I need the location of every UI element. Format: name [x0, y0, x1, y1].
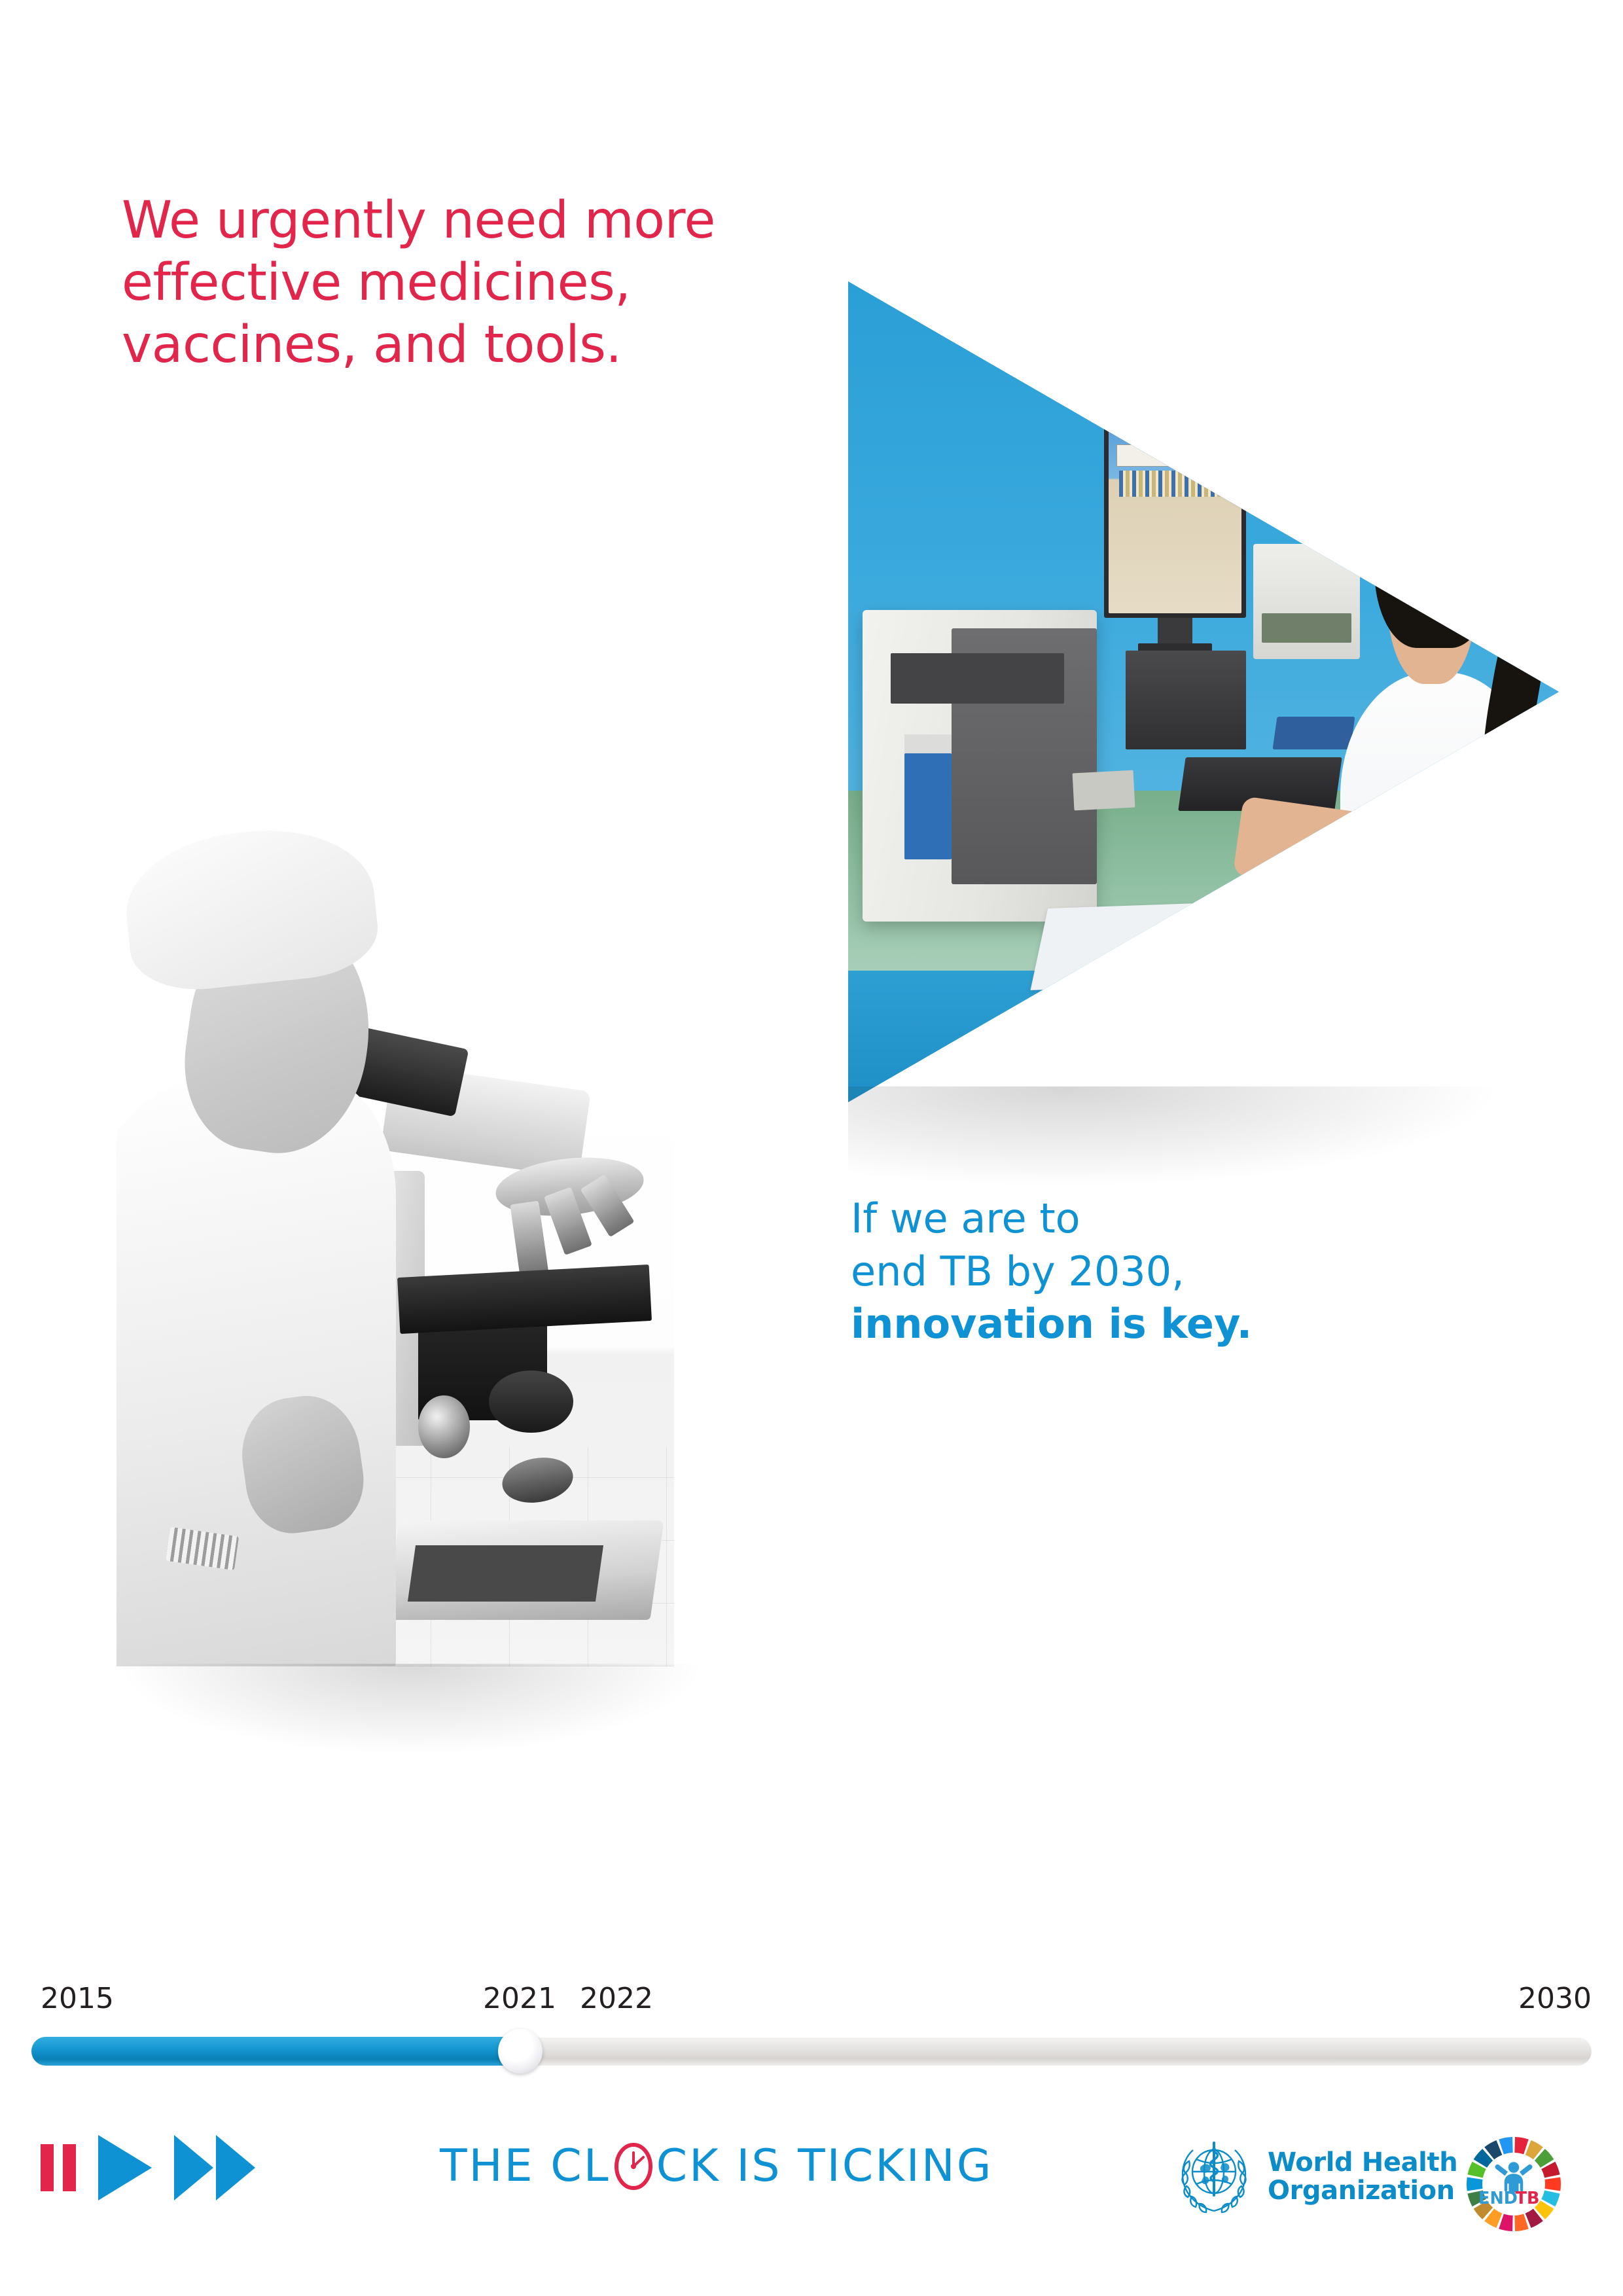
- who-wordmark: World HealthOrganization: [1268, 2149, 1457, 2205]
- technician-mouse-arm: [1411, 823, 1486, 892]
- lab-scene-background: [848, 281, 1559, 1102]
- fast-forward-triangle-2: [216, 2135, 255, 2200]
- fast-forward-icon[interactable]: [174, 2135, 255, 2200]
- timeline-label-2022: 2022: [580, 1982, 653, 2015]
- timeline-slider[interactable]: 2015 2021 2022 2030: [31, 1982, 1592, 2073]
- monitor-stand: [1158, 618, 1192, 645]
- screen-data-strip: [1119, 471, 1228, 497]
- genexpert-slot: [891, 653, 1064, 703]
- clock-icon: [613, 2142, 654, 2191]
- left-photo-shadow: [116, 1664, 705, 1755]
- screen-window-bar: [1116, 444, 1231, 467]
- pause-bar-left: [41, 2144, 54, 2191]
- sdg-wheel-segment: [1499, 2214, 1512, 2231]
- genexpert-tray: [1073, 770, 1135, 811]
- timeline-label-start: 2015: [41, 1982, 114, 2015]
- triangle-photo-shadow: [848, 1086, 1516, 1191]
- pause-icon[interactable]: [41, 2144, 76, 2191]
- page-title: We urgently need more effective medicine…: [122, 190, 776, 376]
- technician-reaching-arm: [1233, 796, 1387, 894]
- genexpert-cartridge: [904, 753, 952, 859]
- microscope-condenser: [489, 1371, 573, 1433]
- microscopist-lab-coat: [116, 1076, 396, 1666]
- monitor-screen: [1109, 425, 1241, 613]
- sdg-wheel-segment: [1514, 2137, 1528, 2154]
- play-icon[interactable]: [98, 2135, 152, 2200]
- sdg-wheel-segment: [1514, 2214, 1528, 2231]
- timeline-thumb[interactable]: [498, 2029, 543, 2073]
- campaign-slogan: THE CL CK IS TICKING: [440, 2140, 993, 2192]
- microscopist-figure: [116, 823, 451, 1666]
- genexpert-machine: [863, 610, 1097, 922]
- sdg-wheel-segment: [1499, 2137, 1512, 2154]
- triangle-photo-container: [848, 281, 1559, 1102]
- microscope-mirror: [499, 1452, 577, 1508]
- subheadline-line-2: end TB by 2030,: [851, 1246, 1440, 1299]
- sdg-wheel-segment: [1544, 2177, 1561, 2191]
- subheadline-line-3: innovation is key.: [851, 1298, 1440, 1351]
- timeline-label-end: 2030: [1518, 1982, 1592, 2015]
- end-tb-sdg-wheel-icon: END TB: [1465, 2135, 1563, 2233]
- paper-lab-form: [1031, 902, 1235, 990]
- slogan-part-1: THE CL: [440, 2140, 611, 2192]
- who-name-line-1: World Health: [1268, 2147, 1457, 2178]
- technician-figure: [1331, 429, 1544, 1037]
- who-logo: World HealthOrganization: [1175, 2138, 1457, 2216]
- lab-floor: [848, 971, 1559, 1102]
- footer-bar: THE CL CK IS TICKING: [0, 2121, 1623, 2251]
- media-controls: [41, 2135, 255, 2200]
- pause-bar-right: [63, 2144, 76, 2191]
- subheadline-line-1: If we are to: [851, 1193, 1440, 1246]
- technician-head: [1387, 478, 1476, 685]
- end-tb-tb-text: TB: [1516, 2189, 1540, 2208]
- who-name-line-2: Organization: [1268, 2176, 1455, 2206]
- slogan-part-2: CK IS TICKING: [656, 2140, 993, 2192]
- monitor-bezel: [1104, 421, 1246, 618]
- timeline-label-2021: 2021: [483, 1982, 556, 2015]
- left-photo-container: [116, 823, 674, 1666]
- technician-hair: [1374, 429, 1493, 648]
- microscope-technician-photo: [116, 823, 674, 1666]
- fast-forward-triangle-1: [174, 2135, 213, 2200]
- computer-monitor: [1104, 421, 1246, 618]
- subheadline: If we are to end TB by 2030, innovation …: [851, 1193, 1440, 1351]
- poster-canvas: We urgently need more effective medicine…: [0, 0, 1623, 2296]
- pc-tower: [1126, 651, 1247, 749]
- lab-technician-genexpert-photo: [848, 281, 1559, 1102]
- end-tb-end-text: END: [1478, 2189, 1518, 2208]
- timeline-progress-fill: [31, 2037, 519, 2066]
- technician-lab-coat: [1340, 672, 1537, 1037]
- who-emblem-icon: [1175, 2138, 1253, 2216]
